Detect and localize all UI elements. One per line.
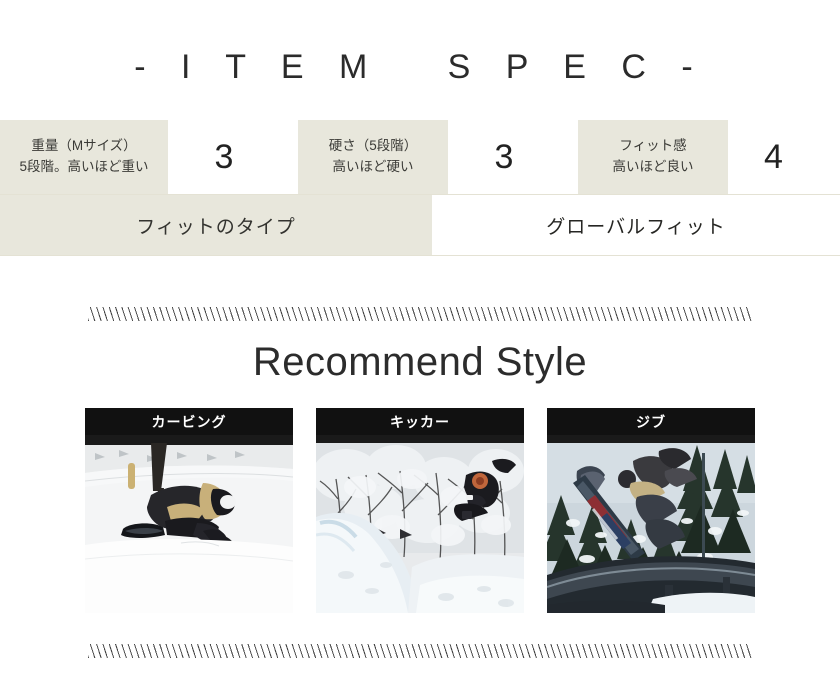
spec-cell-gap-1 <box>280 120 298 194</box>
spec-label-fit-line2: 高いほど良い <box>613 157 694 178</box>
jib-photo-illustration <box>547 435 755 613</box>
spec-table-row-fit-type: フィットのタイプ グローバルフィット <box>0 194 840 256</box>
spec-label-stiffness-line1: 硬さ（5段階） <box>329 136 418 157</box>
kicker-photo-illustration <box>316 435 524 613</box>
style-card-carving-photo <box>85 435 293 613</box>
spec-label-fit: フィット感 高いほど良い <box>578 120 728 194</box>
style-card-kicker-photo <box>316 435 524 613</box>
spec-label-fit-type: フィットのタイプ <box>0 195 432 255</box>
hatched-divider-bottom <box>88 644 752 658</box>
style-card-jib-photo <box>547 435 755 613</box>
recommend-style-title: Recommend Style <box>0 340 840 385</box>
spec-table-row-ratings: 重量（Mサイズ） 5段階。高いほど重い 3 硬さ（5段階） 高いほど硬い 3 フ… <box>0 120 840 194</box>
spec-value-stiffness: 3 <box>448 120 560 194</box>
spec-label-weight: 重量（Mサイズ） 5段階。高いほど重い <box>0 120 168 194</box>
spec-value-weight: 3 <box>168 120 280 194</box>
spec-table: 重量（Mサイズ） 5段階。高いほど重い 3 硬さ（5段階） 高いほど硬い 3 フ… <box>0 120 840 256</box>
style-card-jib[interactable]: ジブ <box>547 408 755 613</box>
spec-label-stiffness: 硬さ（5段階） 高いほど硬い <box>298 120 448 194</box>
recommend-style-cards: カービング <box>85 408 755 613</box>
spec-label-stiffness-line2: 高いほど硬い <box>333 157 414 178</box>
style-card-kicker-label: キッカー <box>316 408 524 435</box>
spec-label-weight-line1: 重量（Mサイズ） <box>31 136 136 157</box>
spec-label-weight-line2: 5段階。高いほど重い <box>19 157 148 178</box>
hatched-divider-top <box>88 307 752 321</box>
style-card-kicker[interactable]: キッカー <box>316 408 524 613</box>
spec-value-fit-type: グローバルフィット <box>432 195 840 255</box>
spec-value-fit: 4 <box>728 120 840 194</box>
carving-photo-illustration <box>85 435 293 613</box>
style-card-carving[interactable]: カービング <box>85 408 293 613</box>
style-card-jib-label: ジブ <box>547 408 755 435</box>
style-card-carving-label: カービング <box>85 408 293 435</box>
spec-cell-gap-2 <box>560 120 578 194</box>
spec-label-fit-line1: フィット感 <box>619 136 686 157</box>
page-title: - I T E M S P E C - <box>0 48 840 87</box>
